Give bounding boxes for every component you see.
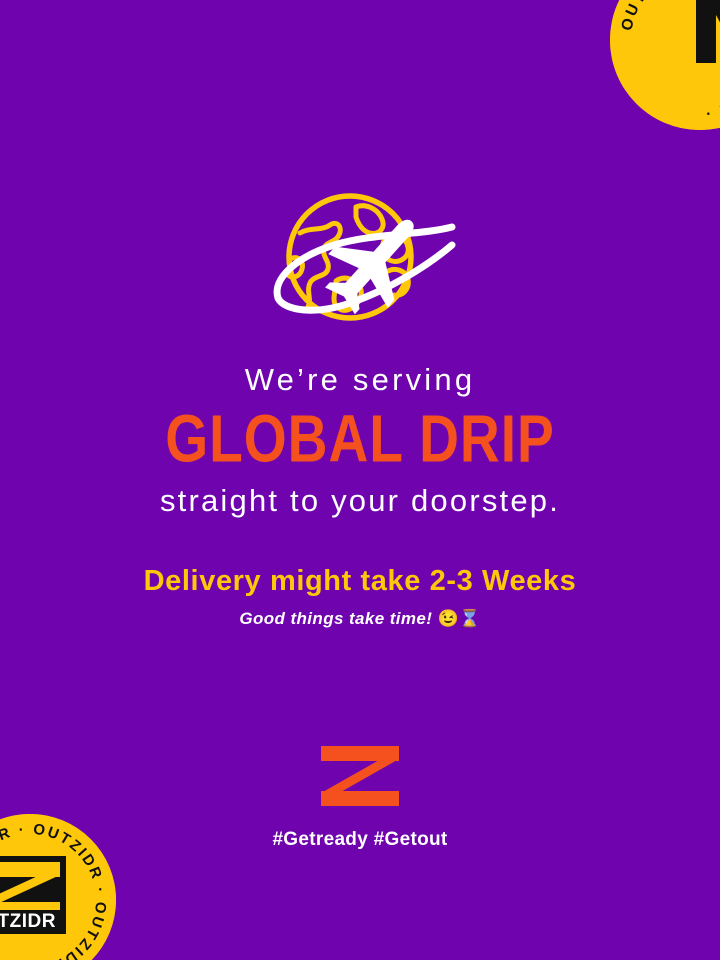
outzidr-seal-top-right: OUTZIDR · OUTZIDR · OUTZIDR · <box>610 0 720 130</box>
headline-subline: straight to your doorstep. <box>0 480 720 522</box>
poster-copy-block: We’re serving GLOBAL DRIP straight to yo… <box>0 360 720 632</box>
outzidr-seal-bottom-left: OUTZIDR · OUTZIDR · OUTZIDR · OUTZIDR <box>0 814 116 960</box>
headline-main: GLOBAL DRIP <box>29 398 691 481</box>
z-logo-icon <box>321 746 399 806</box>
poster-canvas: OUTZIDR · OUTZIDR · OUTZIDR · <box>0 0 720 960</box>
wink-face-emoji: 😉 <box>437 609 459 628</box>
delivery-notice: Delivery might take 2-3 Weeks <box>0 562 720 600</box>
hourglass-emoji: ⌛ <box>459 609 481 628</box>
globe-airplane-emblem <box>238 175 486 340</box>
tagline-row: Good things take time! 😉⌛ <box>0 606 720 632</box>
tagline-text: Good things take time! <box>239 609 432 628</box>
seal-wordmark-bl: OUTZIDR <box>0 911 56 932</box>
headline-kicker: We’re serving <box>0 360 720 400</box>
